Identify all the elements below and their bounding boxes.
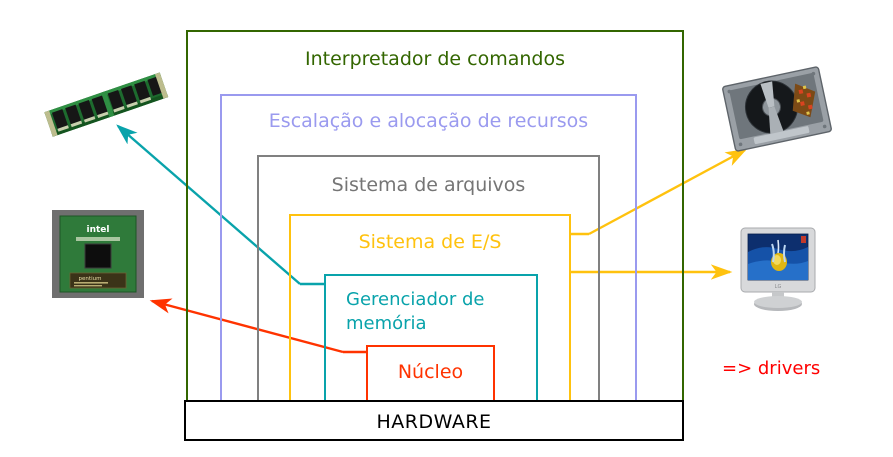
svg-text:pentium: pentium — [79, 276, 102, 282]
svg-text:intel: intel — [87, 225, 110, 235]
layer-label-file-system: Sistema de arquivos — [259, 174, 598, 196]
layer-box-hardware: HARDWARE — [184, 400, 684, 441]
layer-label-kernel: Núcleo — [368, 361, 493, 383]
svg-text:LG: LG — [775, 284, 782, 290]
layer-label-hardware: HARDWARE — [186, 411, 682, 433]
layer-label-memory-manager: Gerenciador de memória — [346, 288, 522, 336]
monitor-photo: LG — [728, 222, 828, 317]
layer-label-command-interpreter: Interpretador de comandos — [188, 48, 682, 70]
hard-disk-photo — [722, 62, 832, 157]
drivers-annotation: => drivers — [722, 358, 820, 379]
layer-box-kernel: Núcleo — [366, 345, 495, 402]
diagram-canvas: Interpretador de comandos Escalação e al… — [0, 0, 893, 457]
layer-label-scheduling-resources: Escalação e alocação de recursos — [222, 110, 635, 132]
cpu-photo: intel pentium — [52, 210, 144, 298]
memory-module-photo — [35, 62, 175, 147]
layer-label-io-system: Sistema de E/S — [291, 231, 569, 253]
